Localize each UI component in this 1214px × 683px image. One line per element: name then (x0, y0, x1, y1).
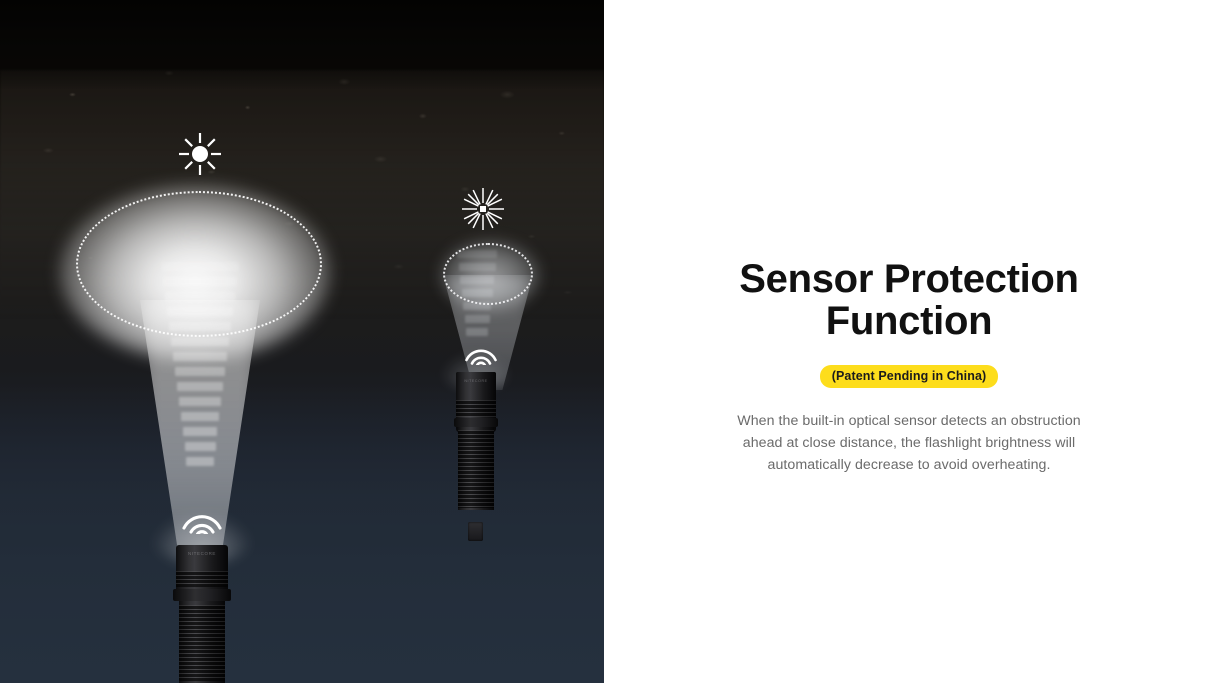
page-title: Sensor Protection Function (669, 258, 1149, 343)
flashlight-head-knurling (456, 400, 496, 417)
flashlight-brand-label: NITECORE (456, 379, 496, 383)
page-title-line-2: Function (669, 300, 1149, 342)
feature-description-line-2: ahead at close distance, the flashlight … (674, 432, 1144, 454)
feature-description-line-1: When the built-in optical sensor detects… (674, 410, 1144, 432)
product-feature-page: NITECORE (0, 0, 1214, 683)
night-sky (0, 0, 604, 90)
flashlight-reduced-brightness: NITECORE (456, 372, 496, 570)
flashlight-collar (173, 589, 231, 601)
flashlight-collar (454, 418, 498, 427)
page-title-line-1: Sensor Protection (669, 258, 1149, 300)
feature-description: When the built-in optical sensor detects… (674, 410, 1144, 476)
flashlight-side-switch (468, 522, 483, 541)
flashlight-tube-knurling (179, 605, 225, 681)
text-panel: Sensor Protection Function (Patent Pendi… (604, 0, 1214, 683)
feature-description-line-3: automatically decrease to avoid overheat… (674, 454, 1144, 476)
flashlight-tube-knurling (458, 430, 494, 508)
flashlight-brand-label: NITECORE (176, 551, 228, 556)
photo-panel: NITECORE (0, 0, 604, 683)
badge-row: (Patent Pending in China) (820, 365, 999, 388)
flashlight-head-knurling (176, 571, 228, 587)
flashlight-full-brightness: NITECORE (176, 545, 228, 683)
patent-pending-badge: (Patent Pending in China) (820, 365, 999, 388)
floor-fade (0, 383, 604, 683)
